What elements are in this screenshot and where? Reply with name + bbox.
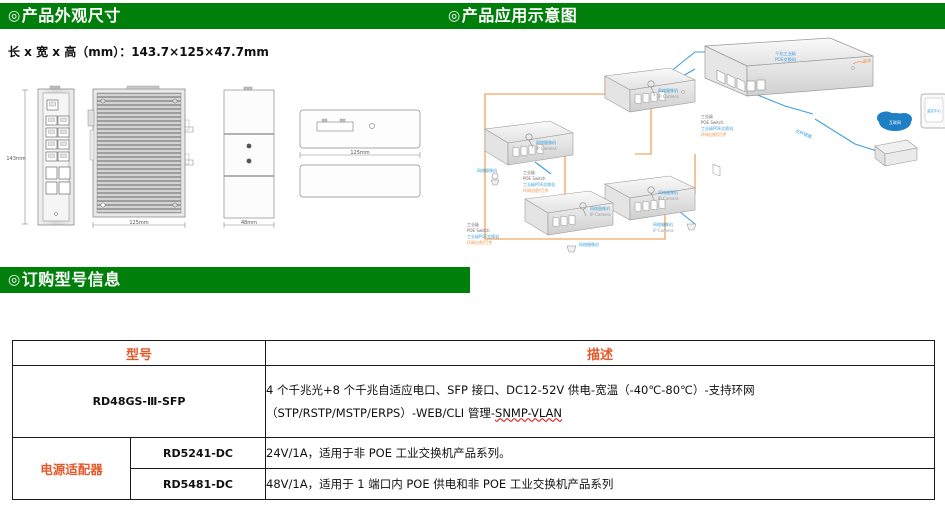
svg-text:IP Camera: IP Camera: [536, 146, 557, 151]
table-header-row: 型号 描述: [13, 341, 935, 366]
front-panel-view: 143mm: [6, 86, 74, 225]
ip-camera-3: [491, 173, 499, 185]
industrial-switch-1: [605, 68, 695, 112]
svg-text:IP Camera: IP Camera: [658, 196, 679, 201]
cell-description-rd5241: 24V/1A，适用于非 POE 工业交换机产品系列。: [266, 438, 935, 469]
cell-description-rd5481: 48V/1A，适用于 1 端口内 POE 供电和非 POE 工业交换机产品系列: [266, 469, 935, 500]
heatsink-top-view: 125mm: [88, 86, 193, 228]
svg-text:POE交换机: POE交换机: [775, 56, 797, 63]
cell-model-rd5241: RD5241-DC: [131, 438, 266, 469]
section-header-dimensions-label: 产品外观尺寸: [22, 6, 121, 25]
product-spec-page: ◎产品外观尺寸 ◎产品应用示意图 长 x 宽 x 高（mm）：143.7×125…: [0, 0, 945, 511]
section-header-ordering: ◎订购型号信息: [0, 267, 470, 293]
cloud-icon: 互联网: [877, 112, 912, 132]
svg-text:环网自愈/冗余: 环网自愈/冗余: [467, 239, 492, 245]
table-row: 电源适配器 RD5241-DC 24V/1A，适用于非 POE 工业交换机产品系…: [13, 438, 935, 469]
svg-text:网络摄像机: 网络摄像机: [653, 221, 673, 227]
svg-text:工业级: 工业级: [523, 169, 535, 175]
svg-text:143mm: 143mm: [6, 156, 25, 162]
industrial-switch-2: [485, 121, 573, 165]
svg-text:工业级POE交换机: 工业级POE交换机: [467, 233, 499, 239]
product-outline-drawings: 143mm: [0, 72, 440, 252]
flat-views: 125mm: [300, 110, 420, 197]
column-header-description: 描述: [266, 341, 935, 366]
svg-text:网络摄像机: 网络摄像机: [658, 87, 678, 93]
ordering-information-table: 型号 描述 RD48GS-Ⅲ-SFP 4 个千兆光+8 个千兆自适应电口、SFP…: [12, 340, 935, 500]
svg-text:POE Switch: POE Switch: [523, 176, 546, 181]
description-line-1: 24V/1A，适用于非 POE 工业交换机产品系列。: [266, 442, 934, 465]
svg-text:光纤链路: 光纤链路: [794, 127, 813, 140]
svg-text:IP Camera: IP Camera: [590, 212, 611, 217]
description-line-2-head: （STP/RSTP/MSTP/ERPS）-WEB/CLI 管理-: [266, 406, 495, 420]
description-line-2: （STP/RSTP/MSTP/ERPS）-WEB/CLI 管理-SNMP-VLA…: [266, 402, 934, 425]
column-header-model: 型号: [13, 341, 266, 366]
svg-text:环网自愈/冗余: 环网自愈/冗余: [701, 131, 726, 137]
dimension-spec-text: 长 x 宽 x 高（mm）：143.7×125×47.7mm: [8, 43, 269, 60]
table-row: RD48GS-Ⅲ-SFP 4 个千兆光+8 个千兆自适应电口、SFP 接口、DC…: [13, 366, 935, 438]
svg-text:IP Camera: IP Camera: [658, 94, 679, 99]
nvr-device: [875, 140, 917, 166]
svg-text:工业级: 工业级: [467, 221, 479, 227]
section-header-application-label: 产品应用示意图: [462, 6, 578, 25]
bullet-ring-icon: ◎: [448, 8, 461, 24]
section-header-ordering-label: 订购型号信息: [22, 270, 121, 289]
svg-text:网络摄像机: 网络摄像机: [536, 139, 556, 145]
ip-camera-5: [687, 224, 696, 230]
svg-text:48mm: 48mm: [241, 220, 257, 226]
svg-text:工业级POE交换机: 工业级POE交换机: [523, 181, 555, 187]
table-row: RD5481-DC 48V/1A，适用于 1 端口内 POE 供电和非 POE …: [13, 469, 935, 500]
monitor-device: 监控中心: [921, 94, 945, 128]
cell-model-rd48gs: RD48GS-Ⅲ-SFP: [13, 366, 266, 438]
svg-text:IP Camera: IP Camera: [653, 228, 674, 233]
svg-text:网络摄像机: 网络摄像机: [477, 167, 497, 173]
svg-text:环网自愈/冗余: 环网自愈/冗余: [523, 187, 548, 193]
svg-text:网络摄像机: 网络摄像机: [590, 205, 610, 211]
svg-text:POE Switch: POE Switch: [467, 228, 490, 233]
application-topology-diagram: 千兆工业级 POE交换机 互联网 监控中心: [455, 34, 945, 259]
cell-model-rd5481: RD5481-DC: [131, 469, 266, 500]
svg-text:125mm: 125mm: [350, 150, 369, 156]
svg-text:POE Switch: POE Switch: [701, 120, 724, 125]
svg-text:电源: 电源: [863, 57, 871, 63]
side-view: 48mm: [224, 87, 274, 228]
svg-text:互联网: 互联网: [889, 119, 901, 125]
ip-camera-7: [567, 246, 576, 252]
svg-text:网络摄像机: 网络摄像机: [579, 241, 599, 247]
svg-text:工业级: 工业级: [701, 113, 713, 119]
cell-group-power-adapter: 电源适配器: [13, 438, 131, 500]
svg-text:千兆工业级: 千兆工业级: [775, 50, 797, 57]
section-header-dimensions: ◎产品外观尺寸: [0, 3, 470, 29]
section-header-application: ◎产品应用示意图: [440, 3, 945, 29]
description-squiggle-term: SNMP-VLAN: [495, 406, 562, 420]
svg-text:工业级POE交换机: 工业级POE交换机: [701, 125, 733, 131]
bullet-ring-icon: ◎: [8, 8, 21, 24]
svg-text:网络摄像机: 网络摄像机: [658, 189, 678, 195]
cell-description-rd48gs: 4 个千兆光+8 个千兆自适应电口、SFP 接口、DC12-52V 供电-宽温（…: [266, 366, 935, 438]
svg-text:125mm: 125mm: [129, 220, 148, 226]
svg-text:监控中心: 监控中心: [927, 108, 942, 113]
description-line-1: 4 个千兆光+8 个千兆自适应电口、SFP 接口、DC12-52V 供电-宽温（…: [266, 379, 934, 402]
bullet-ring-icon: ◎: [8, 272, 21, 288]
description-line-1: 48V/1A，适用于 1 端口内 POE 供电和非 POE 工业交换机产品系列: [266, 473, 934, 496]
